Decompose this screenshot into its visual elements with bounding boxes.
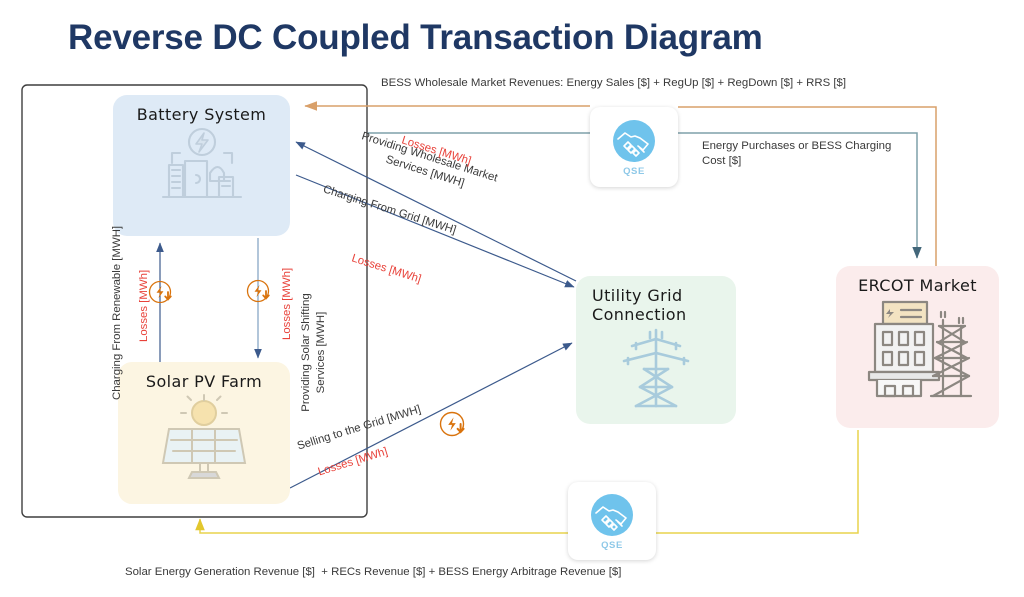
label-solar-shifting-services: Providing Solar Shifting Services [MWH] — [299, 275, 330, 430]
loss-icon-renewable — [150, 282, 171, 303]
label-charging-from-renewable: Charging From Renewable [MWH] — [110, 226, 125, 400]
label-losses-charging: Losses [MWh] — [349, 252, 422, 288]
node-solar-pv-farm[interactable]: Solar PV Farm — [118, 362, 290, 504]
node-qse-top-label: QSE — [623, 166, 645, 177]
node-utility-grid-connection[interactable]: Utility Grid Connection — [576, 276, 736, 424]
diagram-canvas: Reverse DC Coupled Transaction Diagram — [0, 0, 1024, 597]
node-solar-pv-farm-label: Solar PV Farm — [146, 373, 262, 392]
label-bess-wholesale-revenues: BESS Wholesale Market Revenues: Energy S… — [381, 76, 846, 91]
loss-icon-selling — [441, 413, 464, 436]
label-losses-selling: Losses [MWh] — [316, 445, 390, 481]
node-qse-bottom[interactable]: QSE — [568, 482, 656, 560]
node-ercot-market-label: ERCOT Market — [858, 277, 977, 296]
handshake-icon — [611, 118, 657, 164]
page-title: Reverse DC Coupled Transaction Diagram — [68, 18, 763, 58]
battery-plant-icon — [147, 125, 257, 209]
node-battery-system[interactable]: Battery System — [113, 95, 290, 236]
node-qse-bottom-label: QSE — [601, 540, 623, 551]
label-wholesale-services: Providing Wholesale Market Services [MWH… — [341, 125, 512, 205]
bess-revenue-orange-to-ercot — [678, 107, 936, 268]
label-solar-revenue: Solar Energy Generation Revenue [$] + RE… — [125, 565, 621, 580]
market-building-icon — [857, 296, 979, 400]
transmission-tower-icon — [610, 327, 702, 409]
label-losses-shifting: Losses [MWh] — [280, 268, 295, 340]
loss-icon-shifting — [248, 281, 269, 302]
node-battery-system-label: Battery System — [137, 106, 267, 125]
label-energy-purchases: Energy Purchases or BESS Charging Cost [… — [702, 139, 902, 170]
node-utility-grid-connection-label: Utility Grid Connection — [592, 287, 687, 325]
node-qse-top[interactable]: QSE — [590, 107, 678, 187]
label-charging-from-grid: Charging From Grid [MWH] — [321, 183, 458, 239]
node-ercot-market[interactable]: ERCOT Market — [836, 266, 999, 428]
handshake-icon — [589, 492, 635, 538]
label-losses-renewable: Losses [MWh] — [137, 270, 152, 342]
solar-panel-icon — [145, 392, 263, 484]
